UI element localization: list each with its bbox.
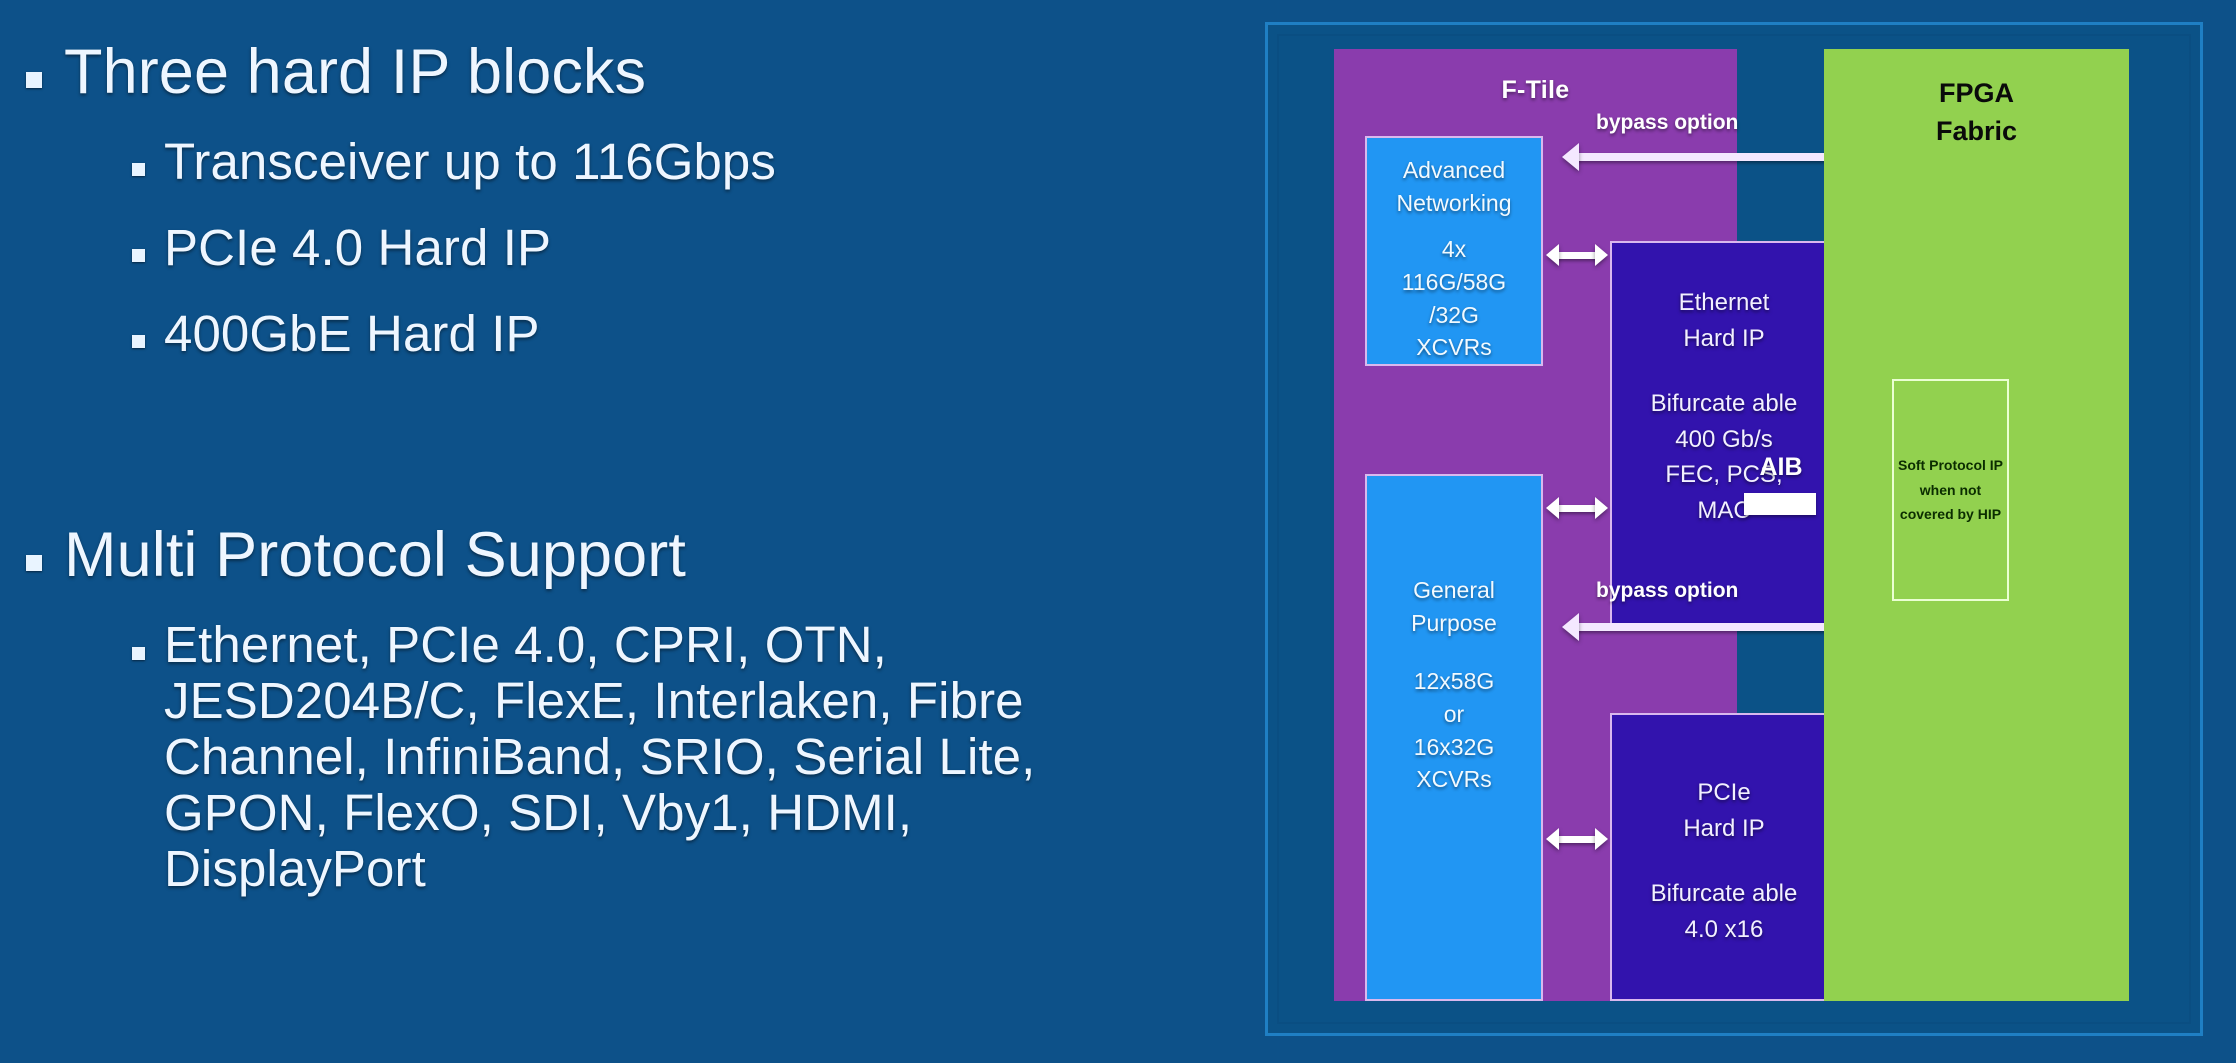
hip-title-line1: PCIe xyxy=(1612,775,1836,811)
xcvr-spec2: 116G/58G xyxy=(1367,266,1541,299)
aib-connector-bar xyxy=(1744,493,1816,515)
bullet-text: Multi Protocol Support xyxy=(64,521,686,589)
pcie-hard-ip-block: PCIe Hard IP Bifurcate able 4.0 x16 xyxy=(1610,713,1838,1001)
hip-detail1: Bifurcate able xyxy=(1612,386,1836,422)
xcvr-spec2: or xyxy=(1367,698,1541,731)
hip-title-line2: Hard IP xyxy=(1612,321,1836,357)
slide-canvas: Three hard IP blocks Transceiver up to 1… xyxy=(0,0,2236,1063)
bullet-text: Three hard IP blocks xyxy=(64,38,646,106)
hip-title-line2: Hard IP xyxy=(1612,811,1836,847)
bullet-text: PCIe 4.0 Hard IP xyxy=(164,219,551,276)
bullet-text: 400GbE Hard IP xyxy=(164,305,540,362)
xcvr-name-line2: Networking xyxy=(1367,187,1541,220)
bullet-400gbe-hard-ip: 400GbE Hard IP xyxy=(0,305,540,362)
bullet-square-icon xyxy=(132,647,145,660)
hip-detail1: Bifurcate able xyxy=(1612,876,1836,912)
fpga-fabric-title: FPGA Fabric xyxy=(1824,74,2129,151)
bullet-protocol-list: Ethernet, PCIe 4.0, CPRI, OTN, JESD204B/… xyxy=(0,617,1184,897)
aib-label: AIB xyxy=(1742,453,1820,482)
bullet-square-icon xyxy=(26,555,42,571)
fpga-fabric-block: FPGA Fabric Soft Protocol IP when not co… xyxy=(1824,49,2129,1001)
architecture-diagram: F-Tile Advanced Networking 4x 116G/58G /… xyxy=(1265,22,2203,1036)
bullet-square-icon xyxy=(132,335,145,348)
bullet-text: Transceiver up to 116Gbps xyxy=(164,133,776,190)
bypass-option-label-bottom: bypass option xyxy=(1596,579,1738,603)
advanced-networking-xcvr-block: Advanced Networking 4x 116G/58G /32G XCV… xyxy=(1365,136,1543,366)
fpga-fabric-title-line1: FPGA xyxy=(1824,74,2129,112)
f-tile-title: F-Tile xyxy=(1334,76,1737,105)
xcvr-spec1: 4x xyxy=(1367,233,1541,266)
fpga-fabric-title-line2: Fabric xyxy=(1824,112,2129,150)
aib-interface: AIB xyxy=(1742,453,1820,573)
bullet-transceiver-116gbps: Transceiver up to 116Gbps xyxy=(0,133,776,190)
soft-protocol-ip-block: Soft Protocol IP when not covered by HIP xyxy=(1892,379,2009,601)
bullet-multi-protocol-support: Multi Protocol Support xyxy=(0,521,686,589)
bullet-text: Ethernet, PCIe 4.0, CPRI, OTN, JESD204B/… xyxy=(164,617,1184,897)
diagram-inner-frame: F-Tile Advanced Networking 4x 116G/58G /… xyxy=(1277,34,2191,1024)
xcvr-name-line2: Purpose xyxy=(1367,607,1541,640)
general-purpose-xcvr-block: General Purpose 12x58G or 16x32G XCVRs xyxy=(1365,474,1543,1001)
bullet-square-icon xyxy=(26,72,42,88)
bullet-square-icon xyxy=(132,249,145,262)
bullet-pcie-40-hard-ip: PCIe 4.0 Hard IP xyxy=(0,219,551,276)
bypass-option-label-top: bypass option xyxy=(1596,111,1738,135)
xcvr-spec4: XCVRs xyxy=(1367,763,1541,796)
hip-detail2: 400 Gb/s xyxy=(1612,422,1836,458)
bullet-list: Three hard IP blocks Transceiver up to 1… xyxy=(0,0,1255,1063)
bullet-square-icon xyxy=(132,163,145,176)
xcvr-spec1: 12x58G xyxy=(1367,665,1541,698)
bullet-three-hard-ip-blocks: Three hard IP blocks xyxy=(0,38,646,106)
xcvr-spec3: /32G xyxy=(1367,299,1541,332)
xcvr-spec3: 16x32G xyxy=(1367,731,1541,764)
xcvr-name-line1: General xyxy=(1367,574,1541,607)
hip-title-line1: Ethernet xyxy=(1612,285,1836,321)
xcvr-spec4: XCVRs xyxy=(1367,331,1541,364)
hip-detail2: 4.0 x16 xyxy=(1612,912,1836,948)
f-tile-block: F-Tile Advanced Networking 4x 116G/58G /… xyxy=(1334,49,1737,1001)
xcvr-name-line1: Advanced xyxy=(1367,154,1541,187)
